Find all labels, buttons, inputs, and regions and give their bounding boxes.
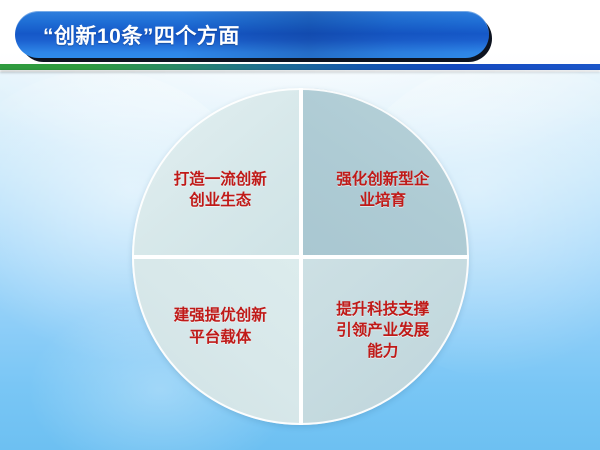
slide-canvas: “创新10条”四个方面 打造一流创新 创业生态 强化创新型企 业培育 建强提优创… <box>0 0 600 450</box>
quadrant-top-right[interactable]: 强化创新型企 业培育 <box>301 88 470 257</box>
slide-header: “创新10条”四个方面 <box>0 0 600 72</box>
quadrant-top-left-label: 打造一流创新 创业生态 <box>174 169 267 212</box>
quadrant-bottom-right-label: 提升科技支撑 引领产业发展 能力 <box>336 299 429 363</box>
quadrant-top-left[interactable]: 打造一流创新 创业生态 <box>132 88 301 257</box>
title-pill: “创新10条”四个方面 <box>15 11 489 58</box>
divider-horizontal <box>132 255 469 259</box>
quadrant-bottom-left[interactable]: 建强提优创新 平台载体 <box>132 257 301 426</box>
header-accent-rule-shadow <box>0 70 600 73</box>
quadrant-bottom-right[interactable]: 提升科技支撑 引领产业发展 能力 <box>301 257 470 426</box>
page-title: “创新10条”四个方面 <box>43 20 240 50</box>
circle-body: 打造一流创新 创业生态 强化创新型企 业培育 建强提优创新 平台载体 提升科技支… <box>132 88 469 425</box>
quadrant-circle-diagram: 打造一流创新 创业生态 强化创新型企 业培育 建强提优创新 平台载体 提升科技支… <box>132 88 469 425</box>
quadrant-top-right-label: 强化创新型企 业培育 <box>336 169 429 212</box>
quadrant-bottom-left-label: 建强提优创新 平台载体 <box>174 305 267 348</box>
